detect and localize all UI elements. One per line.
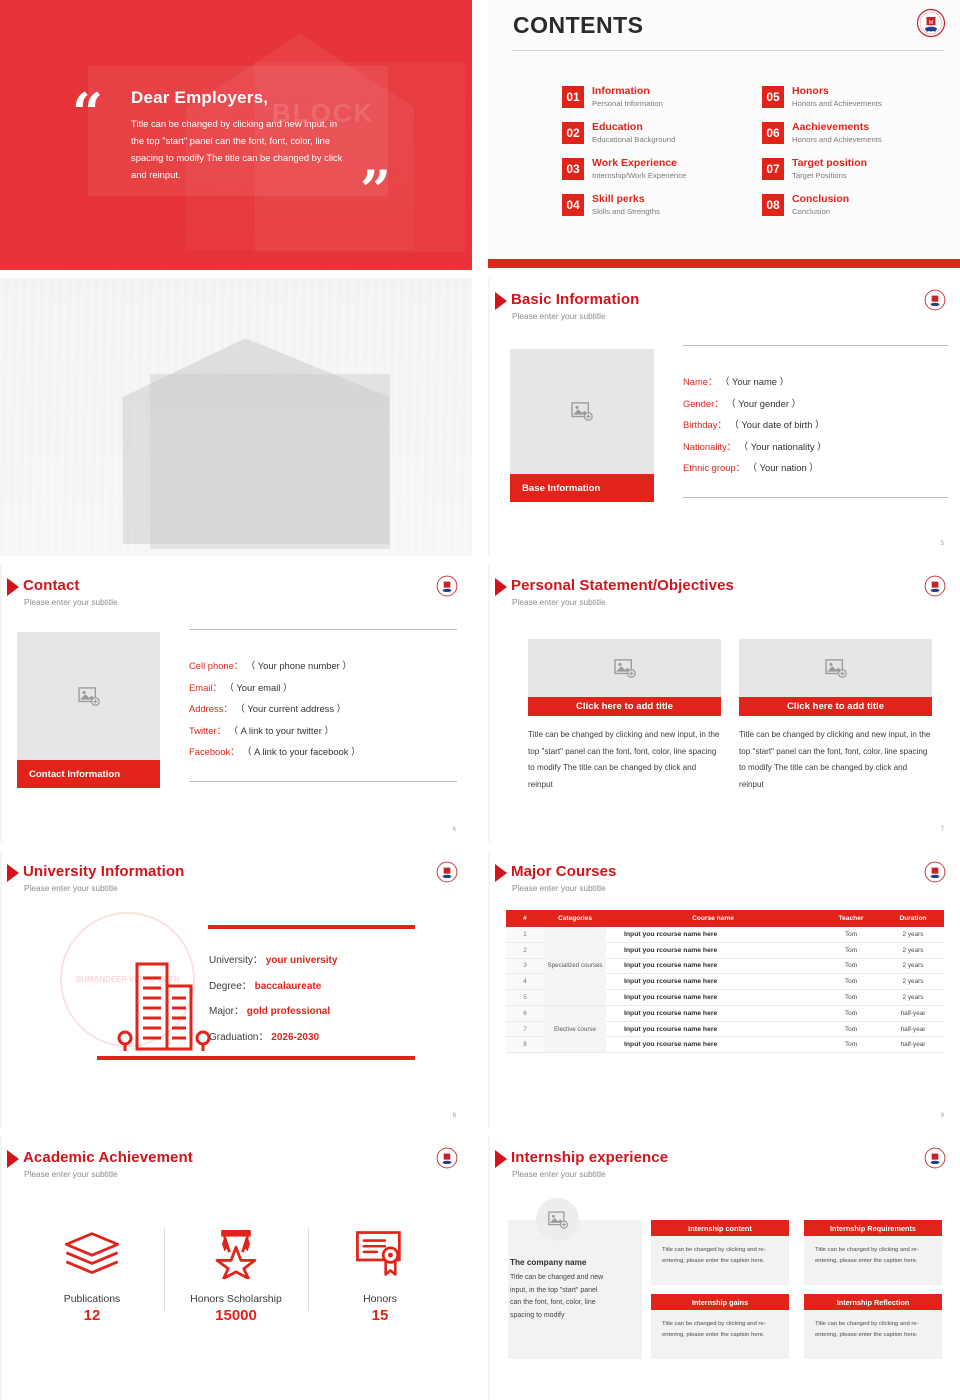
field-value[interactable]: （ Your nationality ） <box>739 441 827 452</box>
slide-contact[interactable]: Contact Please enter your subtitle Conta… <box>0 564 472 842</box>
cell-duration[interactable]: half-year <box>882 1005 944 1021</box>
field-key: Gender： <box>683 398 724 409</box>
certificate-icon <box>308 1224 452 1282</box>
cell-index: 1 <box>506 927 544 942</box>
cell-duration[interactable]: half-year <box>882 1037 944 1053</box>
field-key: Ethnic group： <box>683 462 745 473</box>
page-number: 6 <box>453 827 456 833</box>
header-arrow-icon <box>495 864 507 882</box>
cell-teacher[interactable]: Tom <box>820 974 882 990</box>
field-key: Twitter： <box>189 725 226 736</box>
contents-item-06[interactable]: 06 Aachievements Honors and Achievements <box>762 121 936 145</box>
slide-academic-achievement[interactable]: Academic Achievement Please enter your s… <box>0 1136 472 1400</box>
courses-table[interactable]: # Categories Course name Teacher Duratio… <box>506 910 944 1053</box>
contents-number: 02 <box>562 122 584 144</box>
contents-item-sub: Educational Background <box>592 134 675 145</box>
university-fields: University： your university Degree： bacc… <box>209 948 337 1050</box>
contents-number: 05 <box>762 86 784 108</box>
page-subtitle: Please enter your subtitle <box>512 883 606 893</box>
stat-value: 15000 <box>164 1307 308 1324</box>
cell-course[interactable]: Input you rcourse name here <box>606 1021 820 1037</box>
cell-course[interactable]: Input you rcourse name here <box>606 1005 820 1021</box>
contents-item-label: Conclusion <box>792 193 849 206</box>
slide-basic-information[interactable]: Basic Information Please enter your subt… <box>488 278 960 556</box>
field-row: Address： （ Your current address ） <box>189 698 457 720</box>
cell-teacher[interactable]: Tom <box>820 1021 882 1037</box>
page-subtitle: Please enter your subtitle <box>24 597 118 607</box>
field-value[interactable]: （ Your email ） <box>224 682 292 693</box>
field-row: Cell phone： （ Your phone number ） <box>189 655 457 677</box>
field-value[interactable]: gold professional <box>247 1006 330 1017</box>
field-key: Email： <box>189 682 222 693</box>
page-title: Basic Information <box>511 291 639 308</box>
page-number: 9 <box>941 1113 944 1119</box>
photo-placeholder[interactable] <box>528 639 721 697</box>
cell-teacher[interactable]: Tom <box>820 942 882 958</box>
svg-text:M: M <box>929 20 933 26</box>
photo-placeholder[interactable] <box>510 349 654 474</box>
slide-university-information[interactable]: University Information Please enter your… <box>0 850 472 1128</box>
card-body: Title can be changed by clicking and re-… <box>651 1236 789 1285</box>
cell-index: 8 <box>506 1037 544 1053</box>
card-body: Title can be changed by clicking and re-… <box>804 1236 942 1285</box>
card-body-text: Title can be changed by clicking and new… <box>528 727 721 793</box>
cell-duration[interactable]: 2 years <box>882 927 944 942</box>
contents-item-05[interactable]: 05 Honors Honors and Achievements <box>762 85 936 109</box>
cell-index: 5 <box>506 990 544 1006</box>
page-number: 7 <box>941 827 944 833</box>
table-row: 6 Elective course Input you rcourse name… <box>506 1005 944 1021</box>
field-row: Name： （ Your name ） <box>683 371 948 393</box>
contents-item-sub: Internship/Work Experience <box>592 170 686 181</box>
panel-rule-bottom <box>97 1056 415 1060</box>
field-rule-bottom <box>189 781 457 782</box>
card-caption-button[interactable]: Click here to add title <box>528 697 721 716</box>
field-key: Birthday： <box>683 419 727 430</box>
cell-index: 2 <box>506 942 544 958</box>
page-title: Internship experience <box>511 1149 668 1166</box>
card-body: Title can be changed by clicking and re-… <box>804 1310 942 1359</box>
university-logo-icon <box>924 861 946 883</box>
page-number: 5 <box>941 541 944 547</box>
card-header: Internship content <box>651 1220 789 1236</box>
photo-caption: Base Information <box>510 474 654 502</box>
page-number: 8 <box>453 1113 456 1119</box>
cell-duration[interactable]: 2 years <box>882 974 944 990</box>
slide-contents[interactable]: CONTENTS M 01 Information Personal Infor… <box>488 0 960 270</box>
header-arrow-icon <box>495 292 507 310</box>
header-arrow-icon <box>495 1150 507 1168</box>
header-arrow-icon <box>7 1150 19 1168</box>
page-title: Major Courses <box>511 863 617 880</box>
cover-body-text: Title can be changed by clicking and new… <box>131 115 349 183</box>
field-key: Cell phone： <box>189 660 243 671</box>
card-body: Title can be changed by clicking and re-… <box>651 1310 789 1359</box>
page-subtitle: Please enter your subtitle <box>24 1169 118 1179</box>
stat-publications[interactable]: Publications 12 <box>20 1224 164 1324</box>
quote-open-icon: “ <box>72 95 103 133</box>
stat-value: 15 <box>308 1307 452 1324</box>
contents-item-sub: Honors and Achievements <box>792 134 882 145</box>
university-logo-icon <box>924 289 946 311</box>
field-value[interactable]: （ Your gender ） <box>726 398 801 409</box>
cell-course[interactable]: Input you rcourse name here <box>606 990 820 1006</box>
contents-item-label: Target position <box>792 157 867 170</box>
contents-item-label: Education <box>592 121 675 134</box>
field-value[interactable]: （ A link to your facebook ） <box>242 746 360 757</box>
contents-bottom-bar <box>488 259 960 268</box>
field-row: Twitter： （ A link to your twitter ） <box>189 720 457 742</box>
col-course: Course name <box>606 910 820 927</box>
university-logo-icon <box>924 1147 946 1169</box>
achievement-stats-row: Publications 12 Honors Scholarship 15000 <box>20 1224 452 1324</box>
field-row: Email： （ Your email ） <box>189 677 457 699</box>
cell-index: 4 <box>506 974 544 990</box>
university-logo-icon <box>924 575 946 597</box>
field-key: University： <box>209 955 263 966</box>
header-arrow-icon <box>7 578 19 596</box>
page-subtitle: Please enter your subtitle <box>512 597 606 607</box>
basic-info-fields: Name： （ Your name ） Gender： （ Your gende… <box>683 345 948 498</box>
image-placeholder-icon <box>614 659 636 678</box>
cell-index: 6 <box>506 1005 544 1021</box>
contents-item-08[interactable]: 08 Conclusion Conclusion <box>762 193 936 217</box>
university-info-panel: SUMANDEEP VIDYAPEETH University： your un… <box>55 912 415 1067</box>
contents-item-list: 01 Information Personal Information 05 H… <box>562 85 936 217</box>
field-row: Nationality： （ Your nationality ） <box>683 436 948 458</box>
field-rule-bottom <box>683 497 948 498</box>
cell-duration[interactable]: half-year <box>882 1021 944 1037</box>
field-value[interactable]: （ Your date of birth ） <box>729 419 824 430</box>
image-placeholder-icon <box>571 402 593 421</box>
page-title: Contact <box>23 577 80 594</box>
field-row: Degree： baccalaureate <box>209 974 337 1000</box>
cell-course[interactable]: Input you rcourse name here <box>606 958 820 974</box>
slide-deck: BLOCK “ ” Dear Employers, Title can be c… <box>0 0 960 1400</box>
photo-caption: Contact Information <box>17 760 160 788</box>
statement-card[interactable]: Click here to add title Title can be cha… <box>739 639 932 793</box>
field-row: Graduation： 2026-2030 <box>209 1025 337 1051</box>
field-value[interactable]: baccalaureate <box>255 981 322 992</box>
panel-rule-top <box>208 925 415 929</box>
contents-item-02[interactable]: 02 Education Educational Background <box>562 121 736 145</box>
header-arrow-icon <box>7 864 19 882</box>
image-placeholder-icon <box>825 659 847 678</box>
contents-number: 07 <box>762 158 784 180</box>
slide-section-divider[interactable]: 01 Personal Information Personal Informa… <box>0 278 472 556</box>
page-subtitle: Please enter your subtitle <box>512 1169 606 1179</box>
cell-category: Specialized courses <box>544 927 606 1005</box>
cell-teacher[interactable]: Tom <box>820 927 882 942</box>
field-value[interactable]: （ Your name ） <box>720 376 789 387</box>
internship-card-requirements[interactable]: Internship Requirements Title can be cha… <box>804 1220 942 1285</box>
field-key: Graduation： <box>209 1032 268 1043</box>
books-icon <box>20 1224 164 1282</box>
cell-teacher[interactable]: Tom <box>820 958 882 974</box>
contents-item-04[interactable]: 04 Skill perks Skills and Strengths <box>562 193 736 217</box>
contents-divider <box>512 50 944 51</box>
stat-label: Honors <box>308 1293 452 1305</box>
contents-item-01[interactable]: 01 Information Personal Information <box>562 85 736 109</box>
slide-cover[interactable]: BLOCK “ ” Dear Employers, Title can be c… <box>0 0 472 270</box>
stat-label: Publications <box>20 1293 164 1305</box>
cell-course[interactable]: Input you rcourse name here <box>606 942 820 958</box>
field-row: Birthday： （ Your date of birth ） <box>683 414 948 436</box>
field-value[interactable]: 2026-2030 <box>271 1032 319 1043</box>
card-header: Internship gains <box>651 1294 789 1310</box>
card-header: Internship Reflection <box>804 1294 942 1310</box>
field-row: University： your university <box>209 948 337 974</box>
company-description: Title can be changed and new input, in t… <box>510 1272 610 1322</box>
page-subtitle: Please enter your subtitle <box>24 883 118 893</box>
cell-duration[interactable]: 2 years <box>882 958 944 974</box>
cell-category: Elective course <box>544 1005 606 1052</box>
field-value[interactable]: （ A link to your twitter ） <box>229 725 334 736</box>
image-placeholder-icon <box>548 1211 568 1229</box>
university-logo-icon <box>436 575 458 597</box>
photo-placeholder[interactable] <box>739 639 932 697</box>
cell-index: 3 <box>506 958 544 974</box>
company-logo-placeholder[interactable] <box>536 1198 579 1241</box>
card-header: Internship Requirements <box>804 1220 942 1236</box>
quote-close-icon: ” <box>360 172 391 210</box>
contents-item-label: Aachievements <box>792 121 882 134</box>
slide-internship-experience[interactable]: Internship experience Please enter your … <box>488 1136 960 1400</box>
contents-number: 04 <box>562 194 584 216</box>
internship-card-gains[interactable]: Internship gains Title can be changed by… <box>651 1294 789 1359</box>
slide-major-courses[interactable]: Major Courses Please enter your subtitle… <box>488 850 960 1128</box>
field-row: Facebook： （ A link to your facebook ） <box>189 741 457 763</box>
statement-card[interactable]: Click here to add title Title can be cha… <box>528 639 721 793</box>
field-key: Name： <box>683 376 717 387</box>
table-header-row: # Categories Course name Teacher Duratio… <box>506 910 944 927</box>
contents-item-label: Honors <box>792 85 882 98</box>
contents-item-label: Skill perks <box>592 193 660 206</box>
contents-number: 01 <box>562 86 584 108</box>
university-logo-icon <box>436 1147 458 1169</box>
field-row: Major： gold professional <box>209 999 337 1025</box>
field-value[interactable]: （ Your nation ） <box>748 462 819 473</box>
contents-item-sub: Personal Information <box>592 98 663 109</box>
contents-number: 03 <box>562 158 584 180</box>
cell-course[interactable]: Input you rcourse name here <box>606 974 820 990</box>
field-value[interactable]: your university <box>266 955 338 966</box>
cell-teacher[interactable]: Tom <box>820 1005 882 1021</box>
medal-star-icon <box>164 1224 308 1282</box>
contents-item-07[interactable]: 07 Target position Target Positions <box>762 157 936 181</box>
university-logo-icon: M <box>916 8 946 38</box>
field-key: Facebook： <box>189 746 240 757</box>
cell-course[interactable]: Input you rcourse name here <box>606 1037 820 1053</box>
contents-number: 08 <box>762 194 784 216</box>
col-category: Categories <box>544 910 606 927</box>
cover-title: Dear Employers, <box>131 88 268 108</box>
divider-building-shape-2 <box>150 374 390 549</box>
card-caption-button[interactable]: Click here to add title <box>739 697 932 716</box>
contents-item-03[interactable]: 03 Work Experience Internship/Work Exper… <box>562 157 736 181</box>
col-duration: Duration <box>882 910 944 927</box>
internship-card-content[interactable]: Internship content Title can be changed … <box>651 1220 789 1285</box>
stat-honors[interactable]: Honors 15 <box>308 1224 452 1324</box>
stat-value: 12 <box>20 1307 164 1324</box>
photo-placeholder[interactable] <box>17 632 160 760</box>
col-teacher: Teacher <box>820 910 882 927</box>
col-index: # <box>506 910 544 927</box>
internship-card-grid: Internship content Title can be changed … <box>651 1220 942 1359</box>
cell-course[interactable]: Input you rcourse name here <box>606 927 820 942</box>
page-title: University Information <box>23 863 184 880</box>
contents-title: CONTENTS <box>513 12 644 39</box>
field-key: Nationality： <box>683 441 736 452</box>
stat-honors-scholarship[interactable]: Honors Scholarship 15000 <box>164 1224 308 1324</box>
field-key: Major： <box>209 1006 244 1017</box>
field-key: Address： <box>189 703 233 714</box>
contents-item-label: Work Experience <box>592 157 686 170</box>
cell-teacher[interactable]: Tom <box>820 1037 882 1053</box>
cell-duration[interactable]: 2 years <box>882 942 944 958</box>
contents-item-sub: Target Positions <box>792 170 867 181</box>
cell-duration[interactable]: 2 years <box>882 990 944 1006</box>
contents-item-sub: Conclusion <box>792 206 849 217</box>
contents-number: 06 <box>762 122 784 144</box>
field-key: Degree： <box>209 981 252 992</box>
field-row: Gender： （ Your gender ） <box>683 393 948 415</box>
contents-item-sub: Skills and Strengths <box>592 206 660 217</box>
internship-card-reflection[interactable]: Internship Reflection Title can be chang… <box>804 1294 942 1359</box>
card-body-text: Title can be changed by clicking and new… <box>739 727 932 793</box>
university-logo-icon <box>436 861 458 883</box>
company-name: The company name <box>510 1258 586 1267</box>
field-value[interactable]: （ Your current address ） <box>235 703 346 714</box>
image-placeholder-icon <box>78 687 100 706</box>
page-title: Academic Achievement <box>23 1149 193 1166</box>
slide-personal-statement[interactable]: Personal Statement/Objectives Please ent… <box>488 564 960 842</box>
page-subtitle: Please enter your subtitle <box>512 311 606 321</box>
statement-card-list: Click here to add title Title can be cha… <box>528 639 932 793</box>
cell-teacher[interactable]: Tom <box>820 990 882 1006</box>
contents-item-sub: Honors and Achievements <box>792 98 882 109</box>
header-arrow-icon <box>495 578 507 596</box>
cell-index: 7 <box>506 1021 544 1037</box>
field-value[interactable]: （ Your phone number ） <box>246 660 352 671</box>
stat-label: Honors Scholarship <box>164 1293 308 1305</box>
table-row: 1 Specialized courses Input you rcourse … <box>506 927 944 942</box>
contact-fields: Cell phone： （ Your phone number ） Email：… <box>189 629 457 782</box>
page-title: Personal Statement/Objectives <box>511 577 734 594</box>
field-row: Ethnic group： （ Your nation ） <box>683 457 948 479</box>
contents-item-label: Information <box>592 85 663 98</box>
